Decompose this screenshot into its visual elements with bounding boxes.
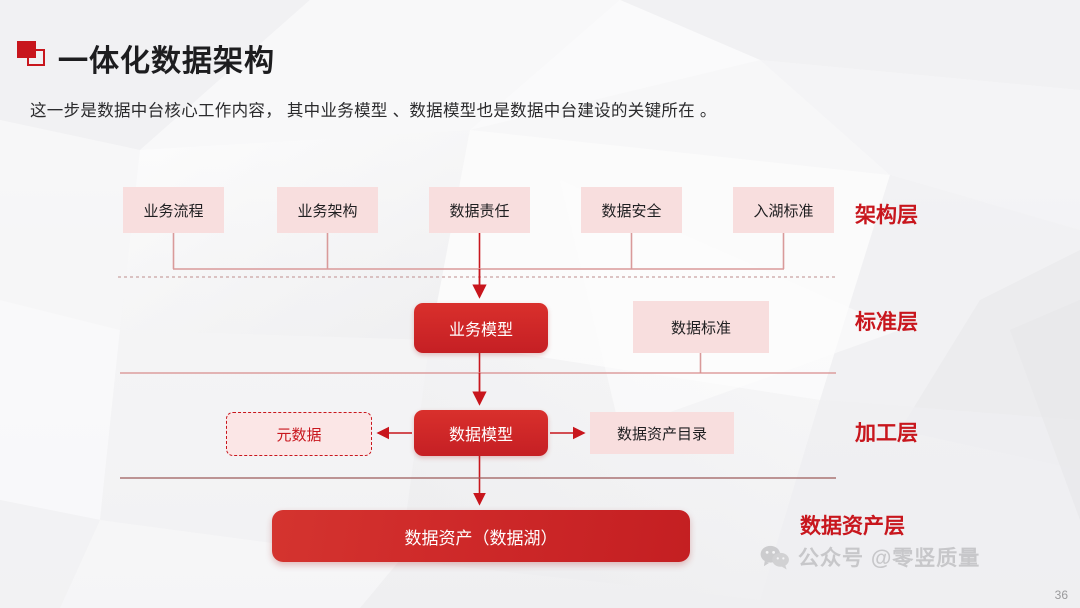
node-lake-ingestion-standard[interactable]: 入湖标准 [733,187,834,233]
page-subtitle: 这一步是数据中台核心工作内容， 其中业务模型 、数据模型也是数据中台建设的关键所… [30,97,717,121]
node-data-security[interactable]: 数据安全 [581,187,682,233]
layer-label-data-asset: 数据资产层 [800,510,905,540]
wechat-icon [760,544,790,570]
watermark: 公众号 @零竖质量 [760,542,980,572]
page-number: 36 [1055,588,1068,602]
slide-header: 一体化数据架构 这一步是数据中台核心工作内容， 其中业务模型 、数据模型也是数据… [0,0,1080,140]
node-data-asset-lake[interactable]: 数据资产（数据湖） [272,510,690,562]
node-business-process[interactable]: 业务流程 [123,187,224,233]
node-metadata[interactable]: 元数据 [226,412,372,456]
node-data-asset-catalog[interactable]: 数据资产目录 [590,412,734,454]
watermark-text: 公众号 @零竖质量 [798,542,980,572]
node-business-model[interactable]: 业务模型 [414,303,548,353]
layer-label-architecture: 架构层 [855,199,918,229]
node-data-standard[interactable]: 数据标准 [633,301,769,353]
slide-canvas: 一体化数据架构 这一步是数据中台核心工作内容， 其中业务模型 、数据模型也是数据… [0,0,1080,608]
node-data-responsibility[interactable]: 数据责任 [429,187,530,233]
title-square-icon [17,41,47,69]
node-business-architecture[interactable]: 业务架构 [277,187,378,233]
layer-label-standard: 标准层 [855,306,918,336]
title-icon-outline-square [27,49,45,66]
node-data-model[interactable]: 数据模型 [414,410,548,456]
layer-label-processing: 加工层 [855,417,918,447]
page-title: 一体化数据架构 [58,36,275,80]
